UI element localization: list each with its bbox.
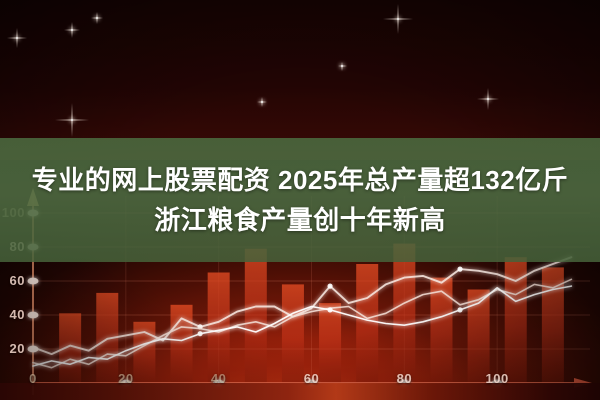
x-tick-label-40: 40 (199, 371, 239, 386)
x-tick-label-60: 60 (292, 371, 332, 386)
y-tick-label-60: 60 (0, 273, 25, 288)
y-tick-label-40: 40 (0, 307, 25, 322)
headline-line-1: 专业的网上股票配资 2025年总产量超132亿斤 (32, 160, 568, 200)
x-tick-label-80: 80 (384, 371, 424, 386)
x-tick-label-100: 100 (477, 371, 517, 386)
headline-line-2: 浙江粮食产量创十年新高 (154, 200, 446, 240)
y-tick-label-20: 20 (0, 341, 25, 356)
article-header-image: 20406080100020406080100 专业的网上股票配资 2025年总… (0, 0, 600, 400)
headline-band: 专业的网上股票配资 2025年总产量超132亿斤 浙江粮食产量创十年新高 (0, 138, 600, 262)
x-tick-label-20: 20 (106, 371, 146, 386)
x-tick-label-0: 0 (13, 371, 53, 386)
